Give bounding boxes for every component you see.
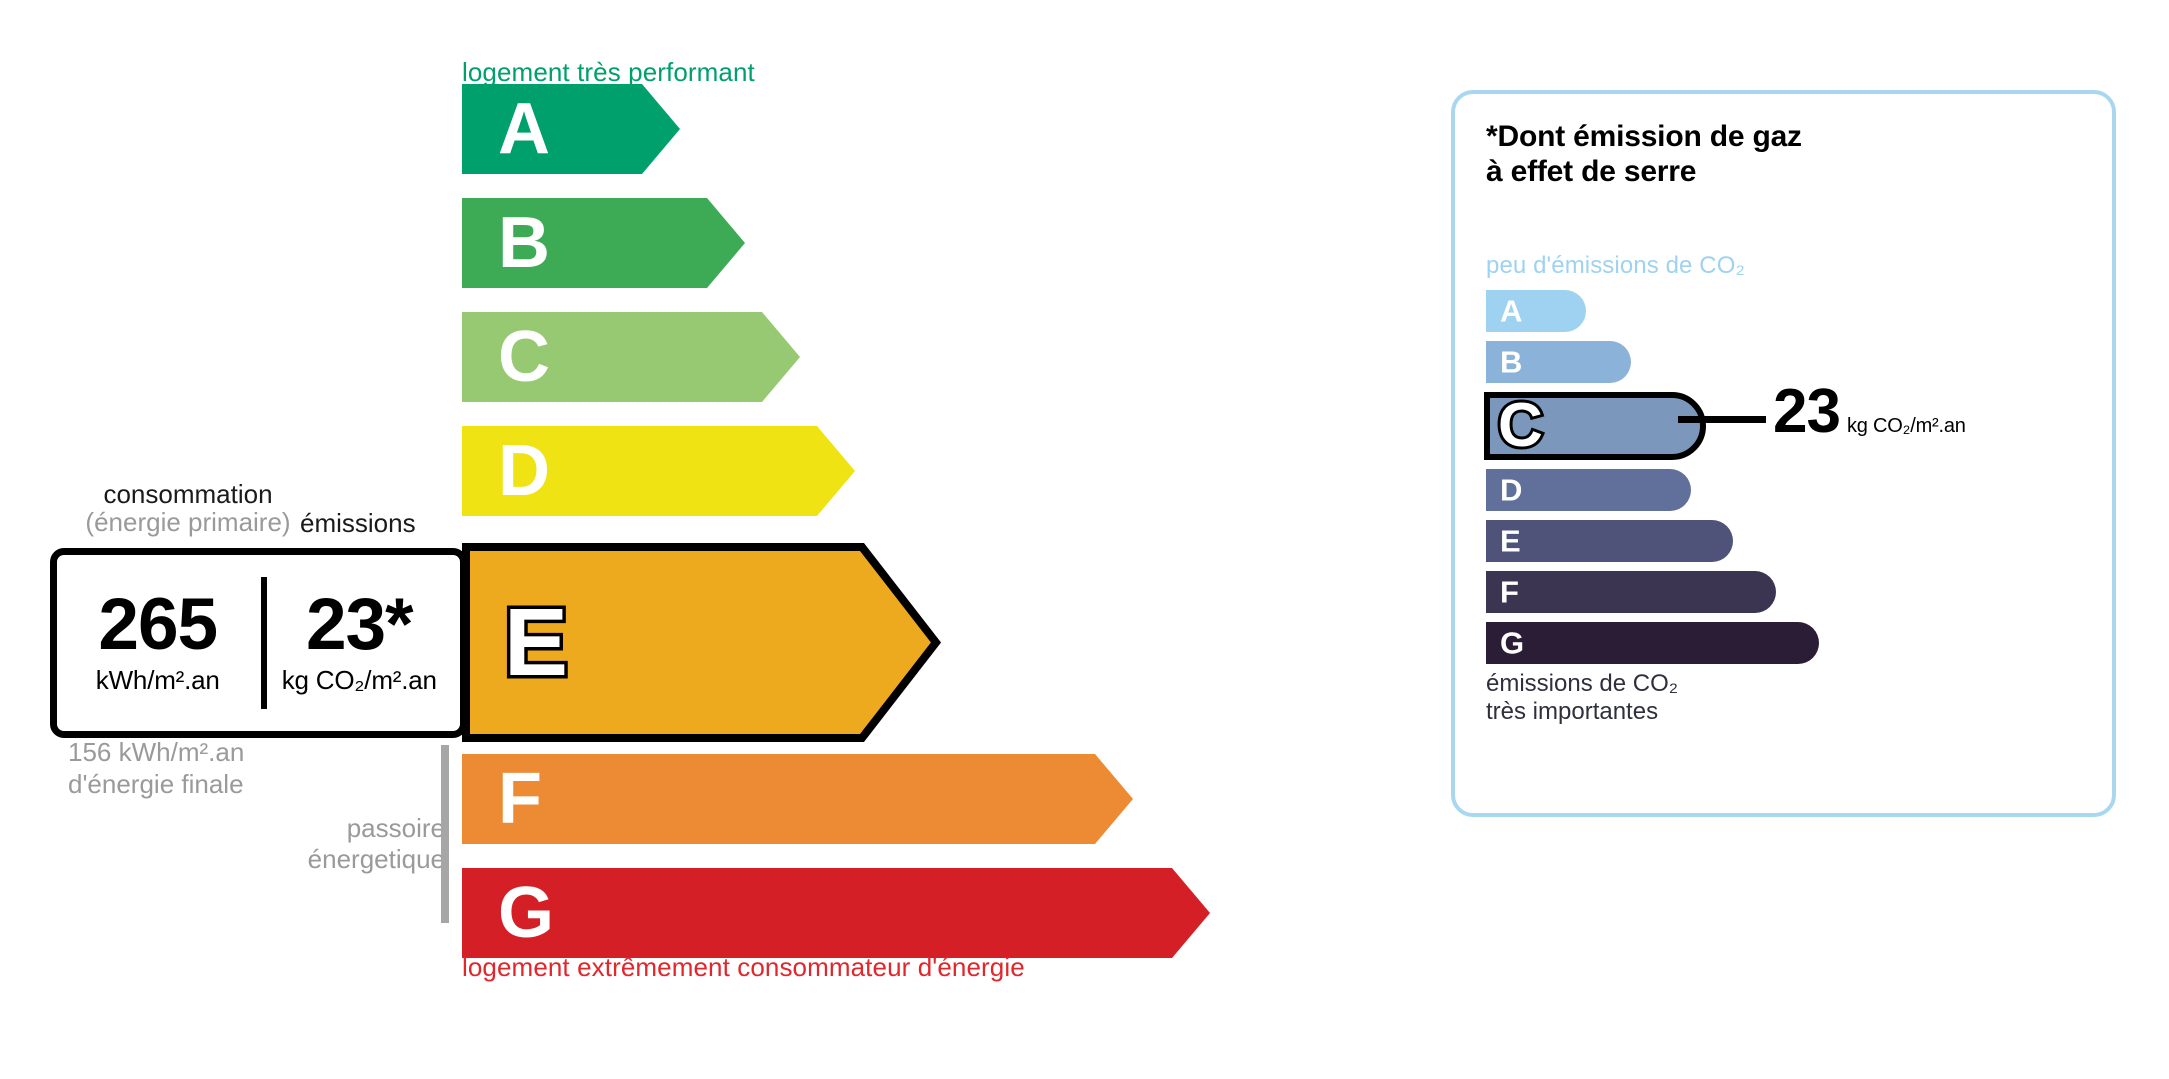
energy-bar-A[interactable]: A [462, 84, 680, 174]
energy-bar-B-letter: B [498, 207, 550, 279]
ges-bottom-caption-line2: très importantes [1486, 698, 1658, 725]
energy-bar-C-letter: C [498, 321, 550, 393]
energy-bar-A-letter: A [498, 93, 550, 165]
passoire-line1: passoire [347, 813, 445, 843]
ges-bar-B-letter: B [1500, 347, 1522, 378]
ges-title: *Dont émission de gaz à effet de serre [1486, 120, 1802, 190]
ges-title-line1: *Dont émission de gaz [1486, 120, 1802, 153]
energy-bar-G[interactable]: G [462, 868, 1210, 958]
energy-bar-list: A B C D [462, 0, 1322, 1079]
energy-unit: kWh/m².an [96, 665, 220, 696]
ges-bar-F[interactable]: F [1486, 571, 2086, 613]
ges-top-caption: peu d'émissions de CO₂ [1486, 252, 1745, 280]
passoire-line2: énergetique [308, 844, 445, 874]
ges-bar-D[interactable]: D [1486, 469, 2086, 511]
energy-value: 265 [98, 590, 217, 660]
final-energy-label: 156 kWh/m².an d'énergie finale [68, 737, 244, 800]
consumption-label-main: consommation [103, 479, 272, 509]
ges-bar-F-letter: F [1500, 577, 1519, 608]
energy-bar-C[interactable]: C [462, 312, 800, 402]
energy-bar-B[interactable]: B [462, 198, 745, 288]
value-box: 265 kWh/m².an 23* kg CO₂/m².an [50, 548, 467, 738]
ges-value-number: 23 [1773, 381, 1840, 443]
energy-bar-E-letter: E [504, 595, 568, 691]
ges-bar-D-letter: D [1500, 475, 1522, 506]
ges-bar-G-letter: G [1500, 628, 1524, 659]
energy-bar-G-letter: G [498, 877, 554, 949]
energy-bar-G-shape [462, 868, 1210, 958]
final-energy-line1: 156 kWh/m².an [68, 737, 244, 767]
ges-bar-F-shape [1486, 571, 1776, 613]
ges-bar-A-letter: A [1500, 296, 1522, 327]
ges-bar-E-shape [1486, 520, 1733, 562]
energy-value-cell: 265 kWh/m².an [57, 555, 259, 731]
emissions-label: émissions [300, 508, 416, 539]
consumption-label-sub: (énergie primaire) [63, 508, 313, 536]
dpe-diagram: logement très performant A B [0, 0, 2169, 1079]
ges-bar-G-shape [1486, 622, 1819, 664]
consumption-label: consommation (énergie primaire) [63, 480, 313, 536]
ges-bar-E-letter: E [1500, 526, 1521, 557]
ges-leader-line [1678, 416, 1766, 423]
ges-bottom-caption-line1: émissions de CO₂ [1486, 670, 1678, 697]
ges-bar-E[interactable]: E [1486, 520, 2086, 562]
passoire-bracket-rule [441, 745, 449, 923]
energy-bar-D-letter: D [498, 435, 550, 507]
ges-bar-list: A B C D E F G [1486, 290, 2086, 673]
ges-title-line2: à effet de serre [1486, 155, 1696, 188]
energy-bar-E[interactable]: E [462, 543, 942, 742]
energy-bar-F-shape [462, 754, 1133, 844]
energy-bottom-caption: logement extrêmement consommateur d'éner… [462, 952, 1025, 983]
ges-bar-C-letter: C [1498, 395, 1543, 457]
final-energy-line2: d'énergie finale [68, 769, 244, 799]
ges-value-unit: kg CO₂/m².an [1847, 415, 1966, 438]
ges-value-cell: 23* kg CO₂/m².an [259, 555, 461, 731]
ges-panel: *Dont émission de gaz à effet de serre p… [1451, 90, 2116, 817]
ges-value-callout: 23 kg CO₂/m².an [1773, 381, 1966, 443]
energy-bar-F-letter: F [498, 763, 542, 835]
ges-bar-G[interactable]: G [1486, 622, 2086, 664]
energy-performance-panel: logement très performant A B [0, 0, 1330, 1079]
ges-unit-main: kg CO₂/m².an [282, 665, 437, 696]
energy-bar-F[interactable]: F [462, 754, 1133, 844]
energy-bar-A-shape [462, 84, 680, 174]
energy-bar-D[interactable]: D [462, 426, 855, 516]
passoire-label: passoire énergetique [280, 813, 445, 874]
ges-value-main: 23* [306, 590, 413, 660]
ges-bottom-caption: émissions de CO₂ très importantes [1486, 670, 1678, 727]
ges-bar-A[interactable]: A [1486, 290, 2086, 332]
